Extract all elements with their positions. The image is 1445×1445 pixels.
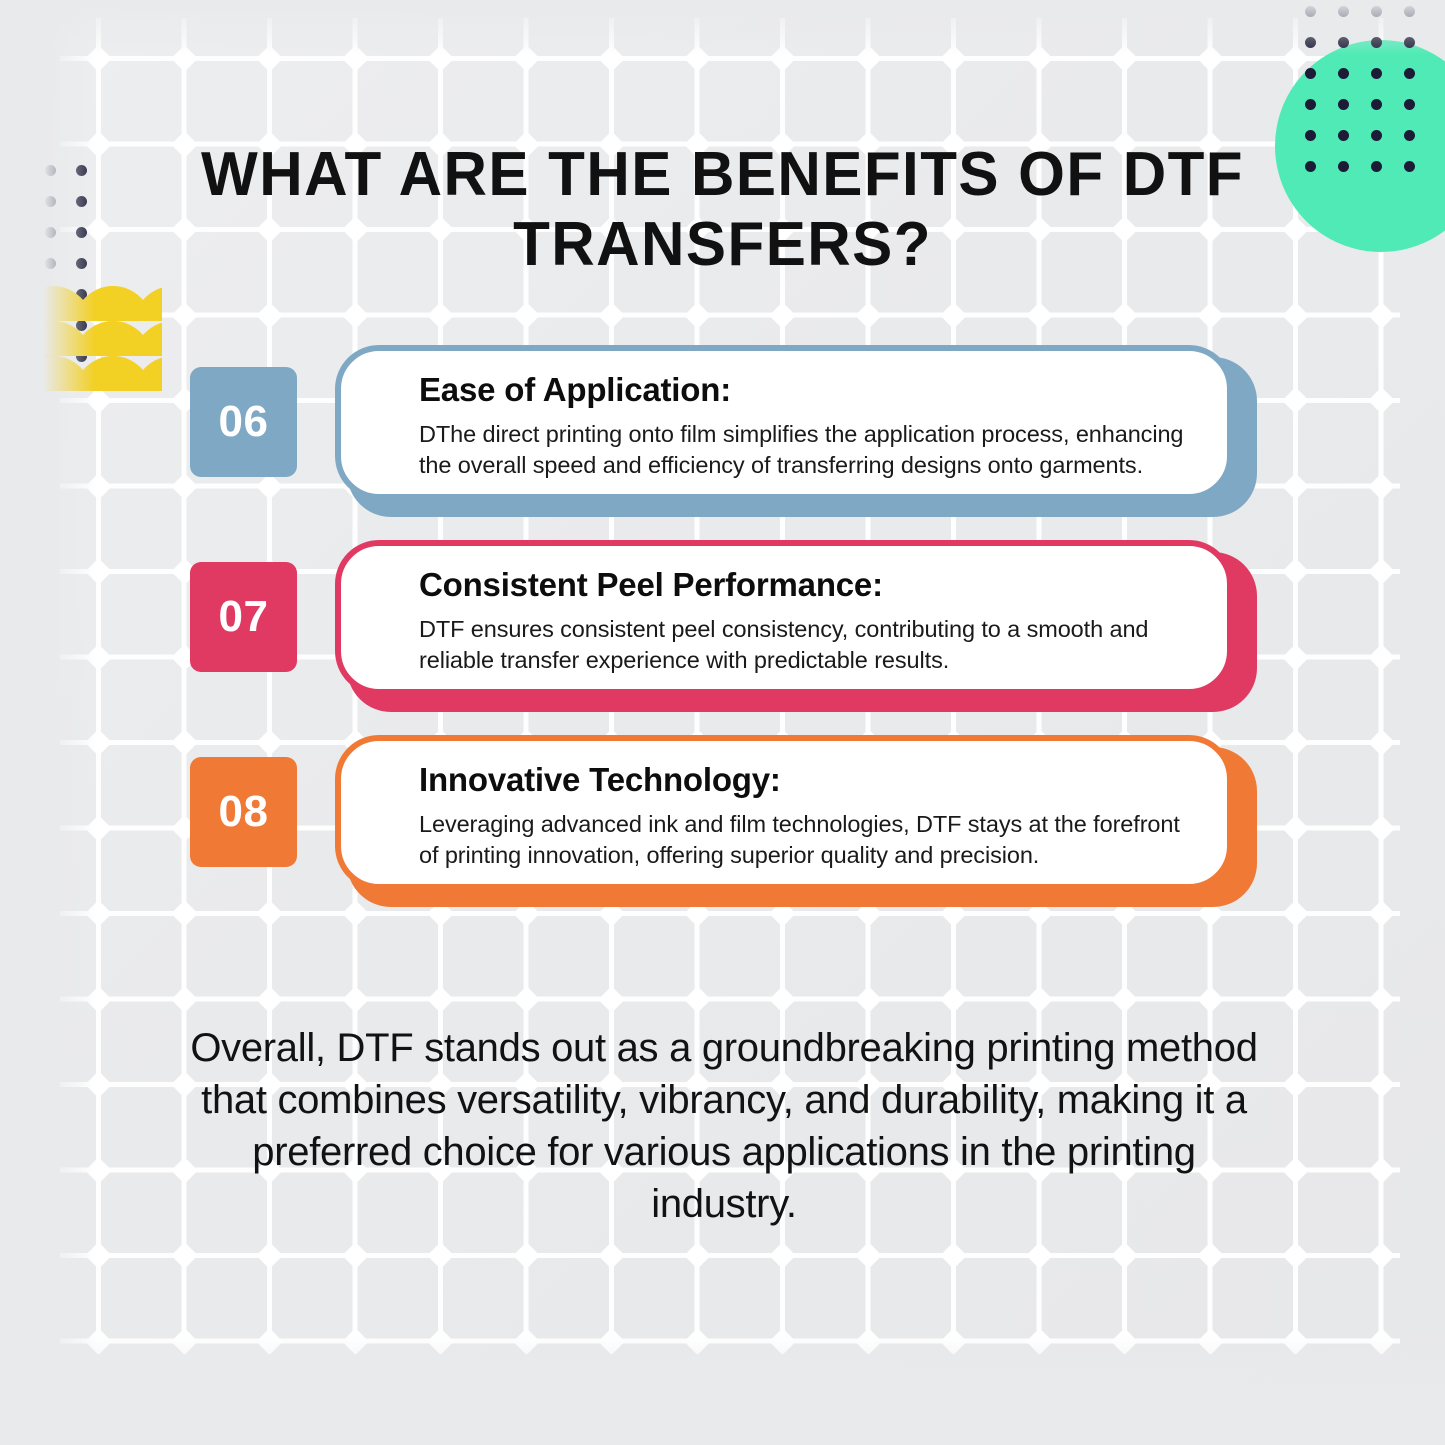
grid-intersection-diamond (1197, 986, 1224, 1013)
decorative-dot (45, 165, 56, 176)
grid-intersection-diamond (1111, 302, 1138, 329)
card-number-badge: 08 (190, 757, 297, 867)
grid-intersection-diamond (513, 986, 540, 1013)
decorative-dot (1404, 130, 1415, 141)
decorative-dot (14, 258, 25, 269)
decorative-dot (1338, 68, 1349, 79)
grid-intersection-diamond (342, 1328, 369, 1355)
grid-intersection-diamond (342, 986, 369, 1013)
grid-intersection-diamond (427, 986, 454, 1013)
grid-intersection-diamond (342, 45, 369, 72)
grid-intersection-diamond (1368, 986, 1395, 1013)
grid-intersection-diamond (1282, 1157, 1309, 1184)
grid-intersection-diamond (256, 302, 283, 329)
benefit-card-item: 06 Ease of Application: DThe direct prin… (0, 345, 1445, 540)
grid-intersection-diamond (85, 1071, 112, 1098)
grid-intersection-diamond (513, 302, 540, 329)
decorative-dot (76, 196, 87, 207)
benefit-card-list: 06 Ease of Application: DThe direct prin… (0, 345, 1445, 930)
decorative-dot (1371, 6, 1382, 17)
decorative-dot (45, 227, 56, 238)
grid-intersection-diamond (171, 1328, 198, 1355)
decorative-dot (1305, 68, 1316, 79)
grid-intersection-diamond (85, 45, 112, 72)
grid-intersection-diamond (1368, 1328, 1395, 1355)
grid-intersection-diamond (684, 302, 711, 329)
grid-intersection-diamond (769, 1242, 796, 1269)
grid-intersection-diamond (855, 1242, 882, 1269)
grid-intersection-diamond (598, 45, 625, 72)
grid-intersection-diamond (427, 1242, 454, 1269)
grid-intersection-diamond (1026, 45, 1053, 72)
grid-fade-bottom (0, 1335, 1445, 1445)
grid-intersection-diamond (598, 986, 625, 1013)
grid-intersection-diamond (256, 986, 283, 1013)
grid-intersection-diamond (1026, 1242, 1053, 1269)
decorative-dot (76, 227, 87, 238)
grid-intersection-diamond (684, 1242, 711, 1269)
card-body: Ease of Application: DThe direct printin… (335, 345, 1233, 500)
card-description: DThe direct printing onto film simplifie… (419, 419, 1193, 481)
grid-intersection-diamond (1026, 302, 1053, 329)
grid-intersection-diamond (342, 302, 369, 329)
grid-intersection-diamond (855, 302, 882, 329)
decorative-dot (1338, 161, 1349, 172)
card-body: Innovative Technology: Leveraging advanc… (335, 735, 1233, 890)
grid-intersection-diamond (855, 45, 882, 72)
grid-intersection-diamond (427, 302, 454, 329)
card-number-badge: 06 (190, 367, 297, 477)
dot-grid-top-right (1305, 6, 1437, 192)
grid-intersection-diamond (1368, 1242, 1395, 1269)
decorative-dot (1404, 161, 1415, 172)
grid-intersection-diamond (940, 1242, 967, 1269)
grid-fade-top (0, 0, 1445, 55)
decorative-dot (1371, 99, 1382, 110)
grid-intersection-diamond (513, 1242, 540, 1269)
grid-intersection-diamond (1026, 1328, 1053, 1355)
grid-intersection-diamond (598, 1328, 625, 1355)
grid-intersection-diamond (1111, 45, 1138, 72)
grid-intersection-diamond (1111, 1328, 1138, 1355)
grid-intersection-diamond (684, 1328, 711, 1355)
semicircle-row (0, 286, 162, 321)
grid-intersection-diamond (1111, 1242, 1138, 1269)
grid-intersection-diamond (769, 1328, 796, 1355)
card-description: Leveraging advanced ink and film technol… (419, 809, 1193, 871)
grid-intersection-diamond (85, 1242, 112, 1269)
decorative-dot (1404, 37, 1415, 48)
grid-intersection-diamond (940, 986, 967, 1013)
decorative-dot (1305, 6, 1316, 17)
decorative-dot (76, 165, 87, 176)
card-heading: Innovative Technology: (419, 761, 1193, 799)
grid-intersection-diamond (1368, 302, 1395, 329)
grid-intersection-diamond (1368, 1157, 1395, 1184)
grid-intersection-diamond (769, 986, 796, 1013)
decorative-dot (1404, 6, 1415, 17)
decorative-dot (1338, 99, 1349, 110)
decorative-dot (45, 258, 56, 269)
decorative-dot (14, 196, 25, 207)
page-title: WHAT ARE THE BENEFITS OF DTF TRANSFERS? (167, 140, 1278, 280)
grid-intersection-diamond (940, 302, 967, 329)
decorative-dot (1371, 130, 1382, 141)
grid-intersection-diamond (855, 1328, 882, 1355)
grid-intersection-diamond (940, 1328, 967, 1355)
grid-intersection-diamond (855, 986, 882, 1013)
card-heading: Ease of Application: (419, 371, 1193, 409)
benefit-card-item: 07 Consistent Peel Performance: DTF ensu… (0, 540, 1445, 735)
grid-intersection-diamond (1197, 1242, 1224, 1269)
grid-intersection-diamond (598, 1242, 625, 1269)
grid-intersection-diamond (1368, 1071, 1395, 1098)
grid-intersection-diamond (171, 1242, 198, 1269)
decorative-dot (1338, 130, 1349, 141)
grid-intersection-diamond (85, 1157, 112, 1184)
grid-intersection-diamond (427, 45, 454, 72)
decorative-dot (76, 258, 87, 269)
card-body: Consistent Peel Performance: DTF ensures… (335, 540, 1233, 695)
decorative-dot (1305, 37, 1316, 48)
grid-intersection-diamond (684, 45, 711, 72)
decorative-dot (14, 165, 25, 176)
grid-intersection-diamond (1197, 302, 1224, 329)
decorative-dot (1371, 68, 1382, 79)
grid-intersection-diamond (171, 45, 198, 72)
decorative-dot (1305, 130, 1316, 141)
grid-intersection-diamond (1197, 45, 1224, 72)
decorative-dot (1305, 161, 1316, 172)
decorative-dot (1371, 37, 1382, 48)
grid-intersection-diamond (769, 302, 796, 329)
infographic-canvas: WHAT ARE THE BENEFITS OF DTF TRANSFERS? … (0, 0, 1445, 1445)
grid-intersection-diamond (256, 1328, 283, 1355)
grid-intersection-diamond (256, 45, 283, 72)
decorative-dot (1338, 37, 1349, 48)
grid-intersection-diamond (1197, 1328, 1224, 1355)
grid-intersection-diamond (1282, 302, 1309, 329)
grid-intersection-diamond (769, 45, 796, 72)
grid-intersection-diamond (1282, 1328, 1309, 1355)
grid-intersection-diamond (1282, 986, 1309, 1013)
benefit-card-item: 08 Innovative Technology: Leveraging adv… (0, 735, 1445, 930)
grid-intersection-diamond (171, 986, 198, 1013)
grid-intersection-diamond (1111, 986, 1138, 1013)
grid-intersection-diamond (1026, 986, 1053, 1013)
grid-intersection-diamond (513, 1328, 540, 1355)
card-number-badge: 07 (190, 562, 297, 672)
grid-intersection-diamond (598, 302, 625, 329)
grid-intersection-diamond (427, 1328, 454, 1355)
decorative-dot (1338, 6, 1349, 17)
card-heading: Consistent Peel Performance: (419, 566, 1193, 604)
card-description: DTF ensures consistent peel consistency,… (419, 614, 1193, 676)
decorative-dot (1404, 99, 1415, 110)
grid-intersection-diamond (684, 986, 711, 1013)
grid-intersection-diamond (85, 986, 112, 1013)
grid-intersection-diamond (342, 1242, 369, 1269)
decorative-dot (1305, 99, 1316, 110)
decorative-dot (45, 196, 56, 207)
grid-intersection-diamond (85, 1328, 112, 1355)
decorative-dot (14, 227, 25, 238)
grid-intersection-diamond (256, 1242, 283, 1269)
grid-intersection-diamond (85, 131, 112, 158)
grid-intersection-diamond (940, 45, 967, 72)
grid-intersection-diamond (1282, 1242, 1309, 1269)
grid-intersection-diamond (171, 302, 198, 329)
closing-paragraph: Overall, DTF stands out as a groundbreak… (178, 1022, 1270, 1230)
decorative-dot (1371, 161, 1382, 172)
grid-intersection-diamond (513, 45, 540, 72)
decorative-dot (1404, 68, 1415, 79)
grid-intersection-diamond (1282, 1071, 1309, 1098)
